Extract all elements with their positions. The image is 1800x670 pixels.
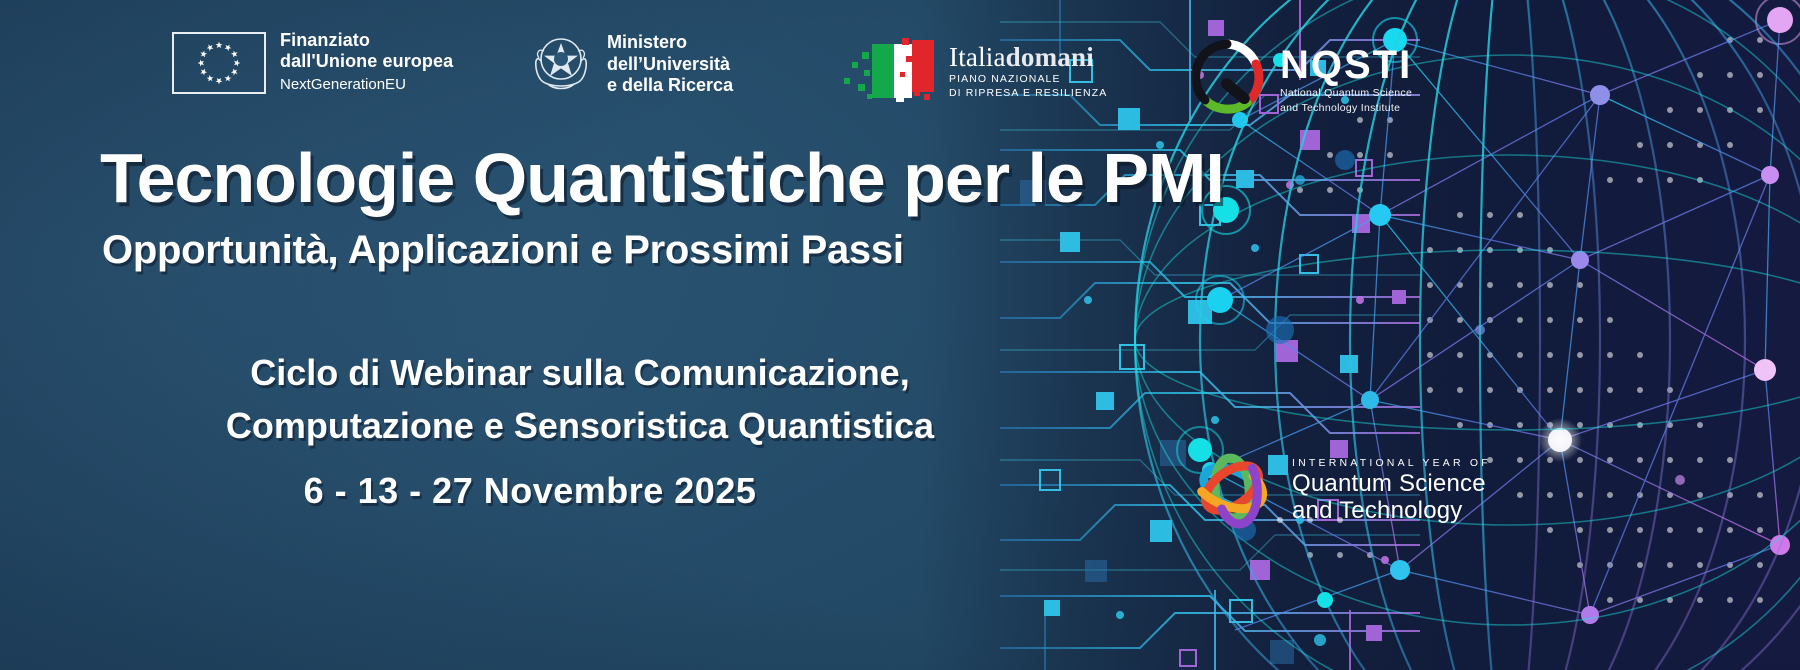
mur-label-line1: Ministero [607, 32, 733, 54]
eu-flag-icon [172, 32, 266, 94]
quantum-atom-knot-icon [1186, 442, 1278, 539]
mur-label-line3: e della Ricerca [607, 75, 733, 97]
series-line-1: Ciclo di Webinar sulla Comunicazione, [0, 352, 1160, 394]
italiadomani-sub-line1: PIANO NAZIONALE [949, 73, 1107, 86]
logo-international-year-quantum: INTERNATIONAL YEAR OF Quantum Science an… [1186, 442, 1491, 539]
event-dates: 6 - 13 - 27 Novembre 2025 [0, 470, 1060, 512]
logo-italia-domani: Italiadomani PIANO NAZIONALE DI RIPRESA … [836, 38, 1107, 104]
nqsti-q-ring-icon [1186, 36, 1268, 123]
iyq-line1: Quantum Science [1292, 470, 1491, 497]
eu-label-line1: Finanziato [280, 30, 453, 51]
page-title: Tecnologie Quantistiche per le PMI [100, 138, 1300, 218]
italiadomani-name-part2: domani [1006, 42, 1094, 72]
nqsti-sub-line2: and Technology Institute [1280, 102, 1412, 115]
event-banner: Finanziato dall'Unione europea NextGener… [0, 0, 1800, 670]
logo-nqsti: NQSTI National Quantum Science and Techn… [1186, 36, 1412, 123]
iyq-line2: and Technology [1292, 497, 1491, 524]
logo-european-union: Finanziato dall'Unione europea NextGener… [172, 30, 453, 95]
italian-flag-pixel-icon [836, 38, 941, 104]
iyq-kicker: INTERNATIONAL YEAR OF [1292, 457, 1491, 470]
series-line-2: Computazione e Sensoristica Quantistica [0, 405, 1160, 447]
eu-label-line2: dall'Unione europea [280, 51, 453, 72]
italian-republic-emblem-icon [528, 28, 594, 101]
page-subtitle: Opportunità, Applicazioni e Prossimi Pas… [102, 228, 1302, 273]
eu-label-line3: NextGenerationEU [280, 75, 453, 95]
logo-ministry-university-research: Ministero dell’Università e della Ricerc… [528, 28, 733, 101]
nqsti-sub-line1: National Quantum Science [1280, 87, 1412, 100]
nqsti-acronym: NQSTI [1280, 45, 1412, 85]
italiadomani-name-part1: Italia [949, 42, 1006, 72]
funding-logo-strip: Finanziato dall'Unione europea NextGener… [0, 22, 1800, 114]
italiadomani-sub-line2: DI RIPRESA E RESILIENZA [949, 87, 1107, 100]
mur-label-line2: dell’Università [607, 54, 733, 76]
